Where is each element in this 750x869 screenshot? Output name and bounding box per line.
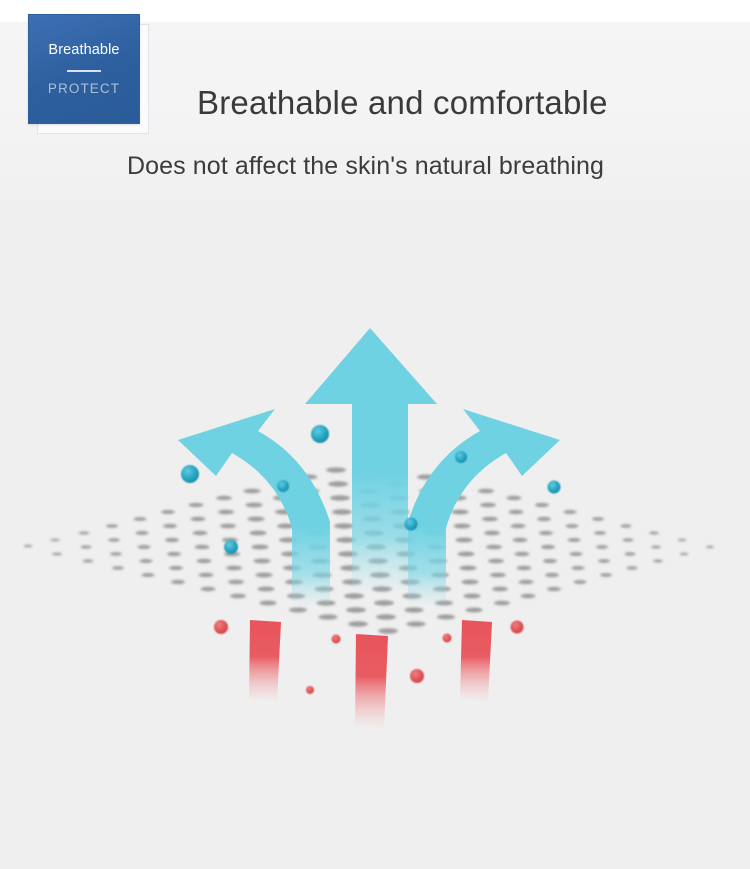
- blocked-bubble: [511, 621, 524, 634]
- page-title: Breathable and comfortable: [197, 81, 608, 125]
- badge-divider: [67, 70, 101, 72]
- blocked-arrow-left: [249, 620, 281, 701]
- breathable-badge: Breathable PROTECT: [28, 14, 150, 135]
- air-bubble: [455, 451, 467, 463]
- blocked-bubble: [410, 669, 424, 683]
- blocked-bubble: [214, 620, 228, 634]
- air-bubble: [181, 465, 199, 483]
- page-subtitle: Does not affect the skin's natural breat…: [127, 148, 604, 184]
- breathability-illustration: [0, 290, 750, 760]
- air-bubble: [548, 481, 561, 494]
- blocked-arrow-group: [249, 620, 492, 728]
- badge-card: Breathable PROTECT: [28, 14, 140, 124]
- blocked-arrow-center: [355, 634, 388, 728]
- page-root: Breathable PROTECT Breathable and comfor…: [0, 0, 750, 869]
- blocked-bubble: [306, 686, 314, 694]
- blocked-arrow-right: [460, 620, 492, 701]
- badge-subtitle: PROTECT: [48, 81, 120, 97]
- air-arrow-group: [178, 328, 560, 605]
- air-bubble: [224, 540, 238, 554]
- air-arrow-right: [408, 409, 560, 605]
- air-bubble: [277, 480, 289, 492]
- air-bubble: [405, 518, 418, 531]
- blocked-bubble: [443, 634, 452, 643]
- blocked-bubble: [332, 635, 341, 644]
- air-bubble: [311, 425, 329, 443]
- badge-title: Breathable: [48, 41, 119, 59]
